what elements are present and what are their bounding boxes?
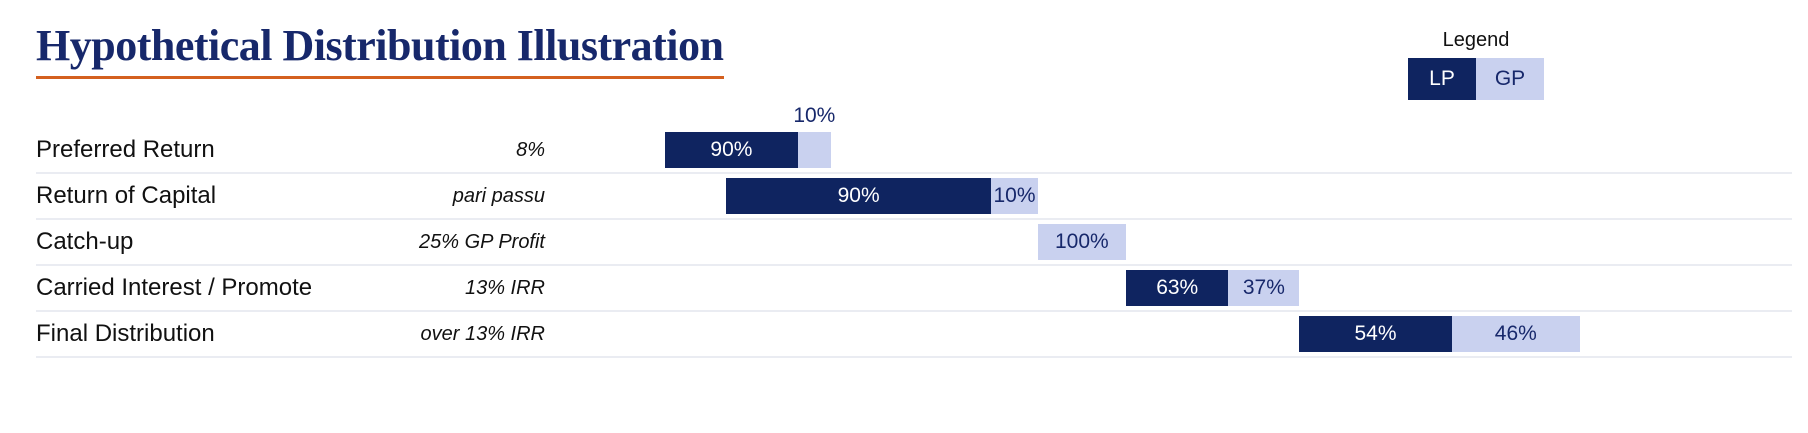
distribution-row: Return of Capitalpari passu90%10% [36,174,1792,220]
bar-segment-value: 90% [838,184,880,208]
bar-segment-value: 63% [1156,276,1198,300]
bar-segment-value: 10% [993,184,1035,208]
bar-segment-gp[interactable]: 100% [1038,224,1127,260]
row-sub-value: pari passu [36,174,545,218]
bar-segment-lp[interactable]: 90% [726,178,992,214]
legend-swatch-gp[interactable]: GP [1476,58,1544,100]
legend-title: Legend [1408,28,1544,52]
chart-header: Hypothetical Distribution Illustration L… [0,0,1808,128]
legend: Legend LP GP [1408,28,1544,100]
legend-swatch-lp[interactable]: LP [1408,58,1476,100]
legend-swatches: LP GP [1408,58,1544,100]
bar-segment-gp[interactable]: 10% [991,178,1037,214]
bar-segment-gp[interactable]: 37% [1228,270,1299,306]
row-sub-value: 8% [36,128,545,172]
row-sub-value: over 13% IRR [36,312,545,356]
bar-segment-value: 46% [1495,322,1537,346]
page-title: Hypothetical Distribution Illustration [36,20,724,79]
bar-track: 90%10% [545,128,1792,172]
bar-track: 100% [545,220,1792,264]
bar-track: 63%37% [545,266,1792,310]
bar-segment-lp[interactable]: 63% [1126,270,1228,306]
distribution-rows: Preferred Return8%90%10%Return of Capita… [36,128,1792,358]
bar-track: 54%46% [545,312,1792,356]
bar-track: 90%10% [545,174,1792,218]
bar-segment-value: 37% [1243,276,1285,300]
distribution-row: Final Distributionover 13% IRR54%46% [36,312,1792,358]
bar-segment-value: 90% [710,138,752,162]
distribution-row: Catch-up25% GP Profit100% [36,220,1792,266]
distribution-row: Carried Interest / Promote13% IRR63%37% [36,266,1792,312]
bar-segment-value: 54% [1354,322,1396,346]
row-sub-value: 25% GP Profit [36,220,545,264]
bar-segment-value: 10% [793,104,835,128]
row-sub-value: 13% IRR [36,266,545,310]
bar-segment-lp[interactable]: 54% [1299,316,1451,352]
bar-segment-gp[interactable]: 10% [798,132,830,168]
bar-segment-lp[interactable]: 90% [665,132,798,168]
distribution-row: Preferred Return8%90%10% [36,128,1792,174]
bar-segment-value: 100% [1055,230,1109,254]
bar-segment-gp[interactable]: 46% [1452,316,1580,352]
